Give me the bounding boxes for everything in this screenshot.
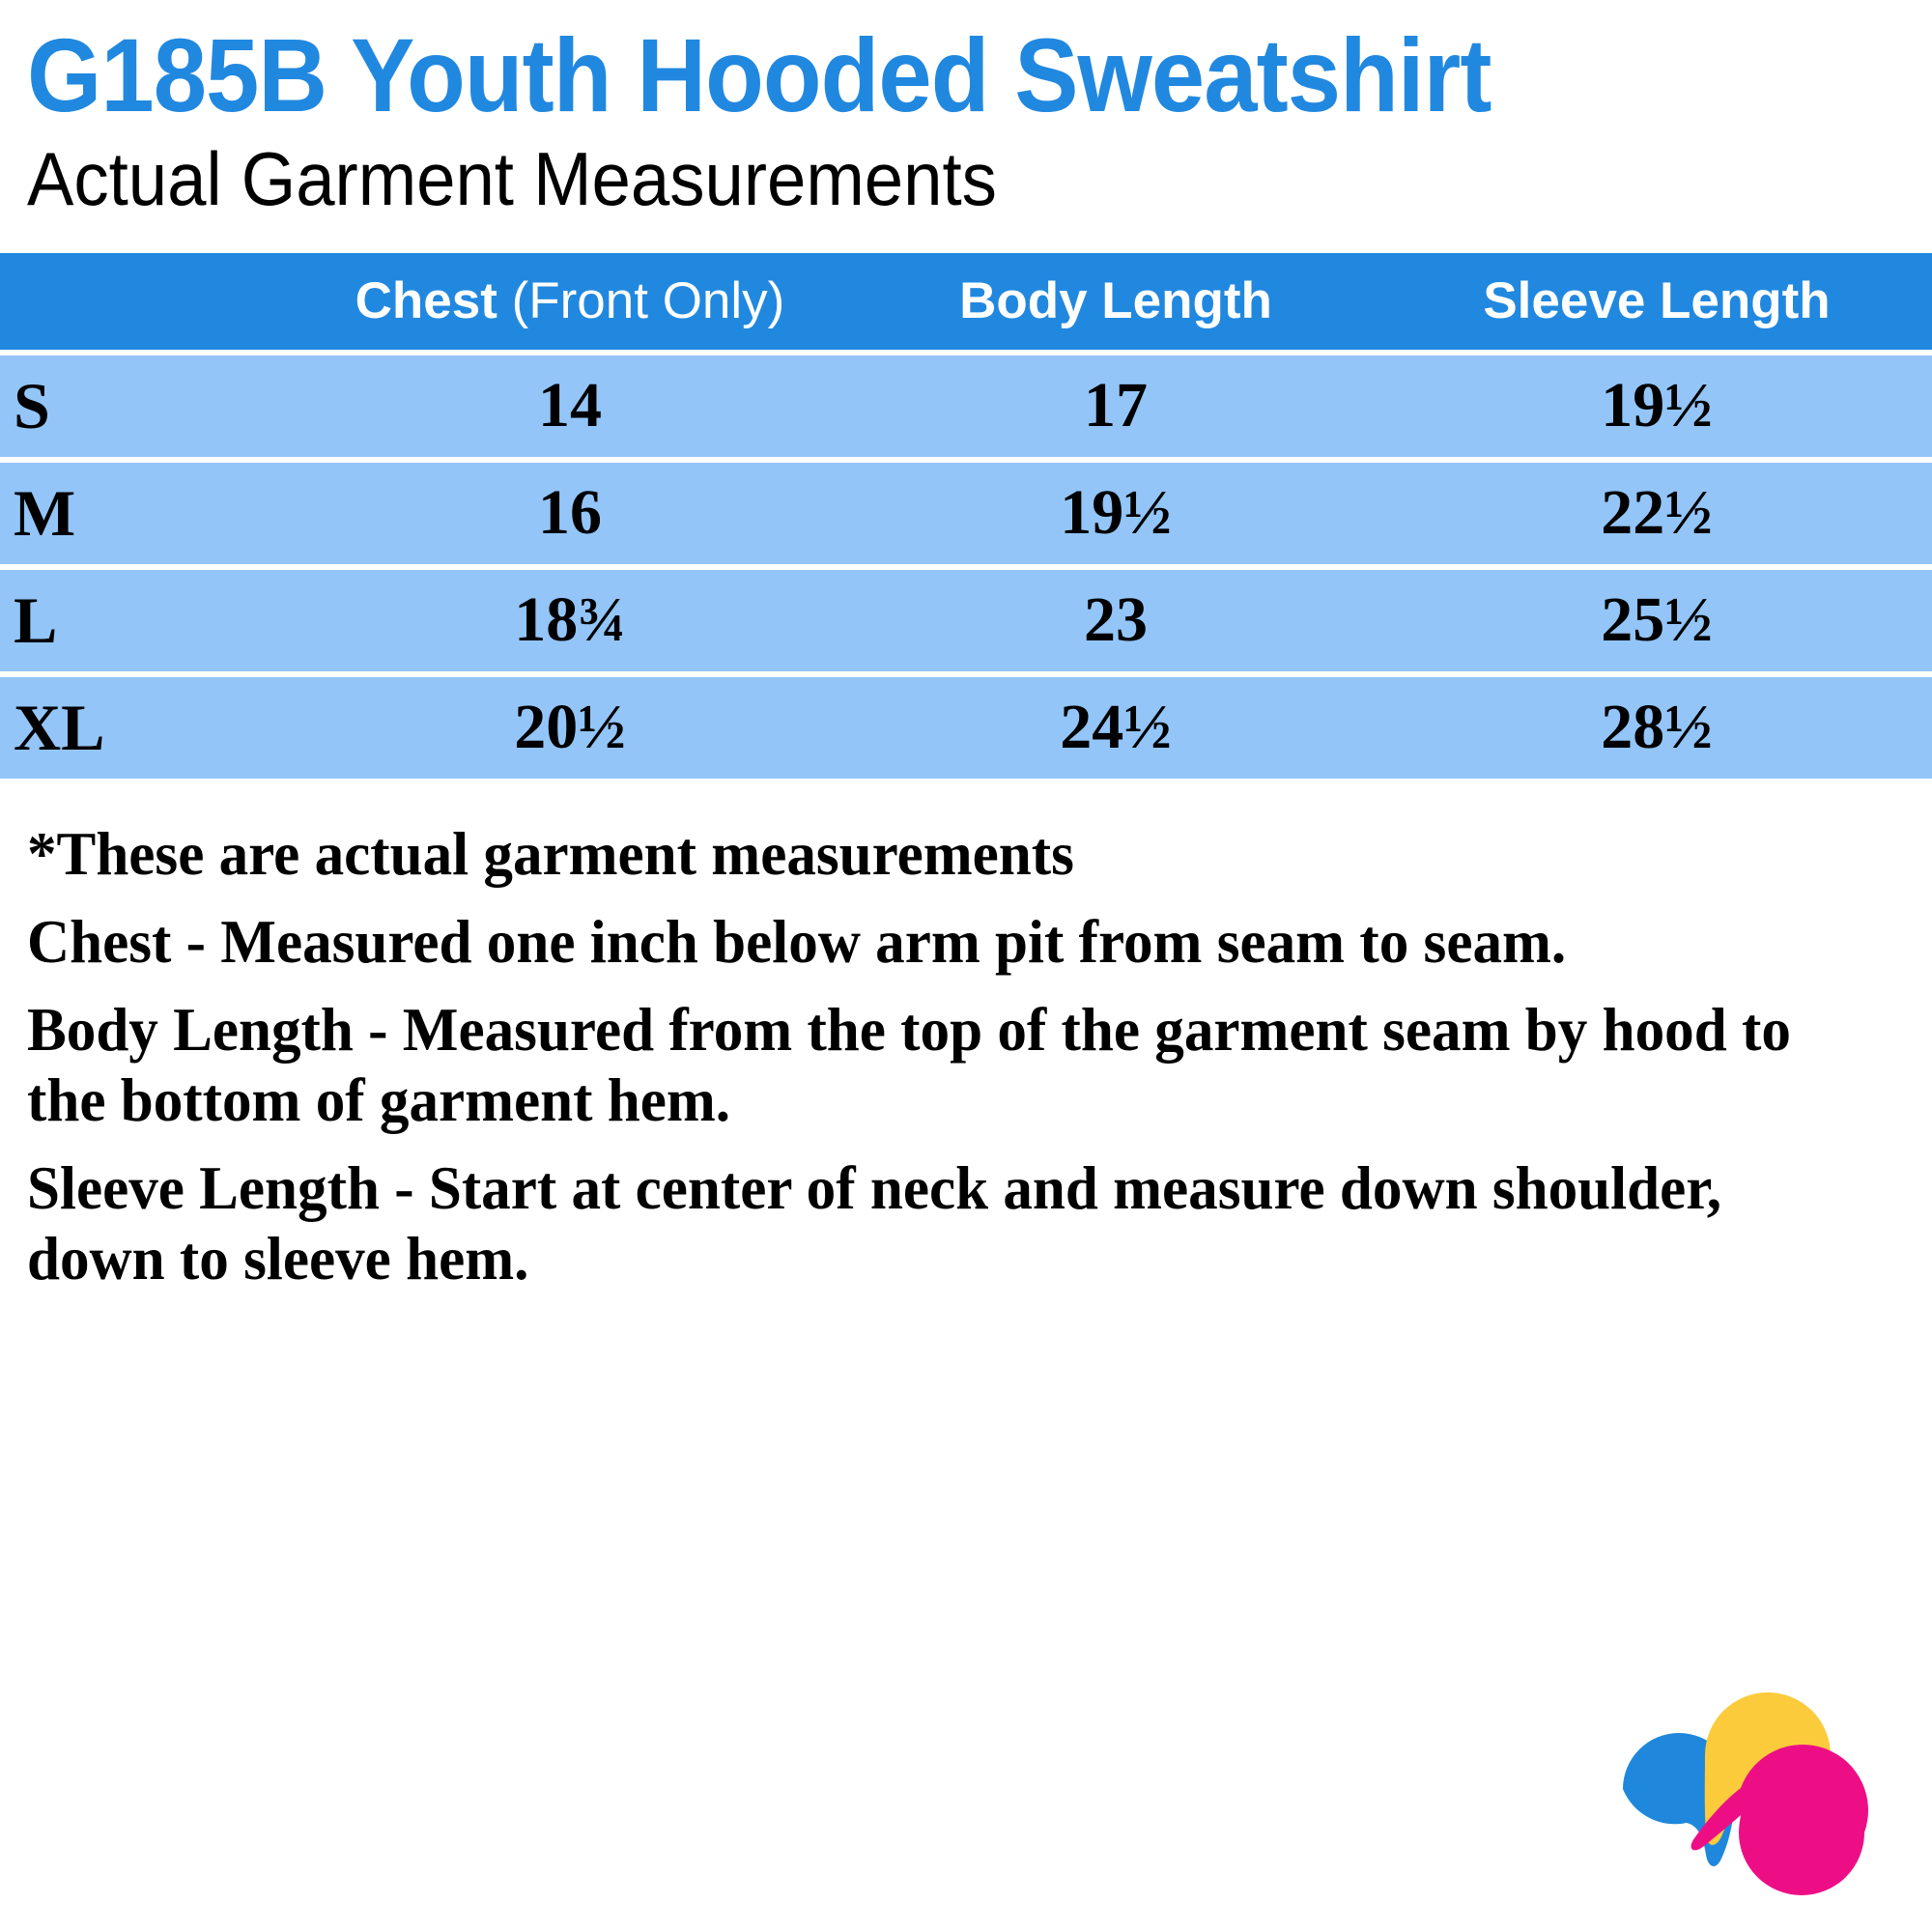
cell-body-length: 17 (850, 355, 1381, 457)
column-header-chest: Chest (Front Only) (290, 253, 850, 350)
column-header-sleeve-length: Sleeve Length (1381, 253, 1932, 350)
cell-chest: 16 (290, 463, 850, 564)
table-row: M 16 19½ 22½ (0, 463, 1932, 564)
note-disclaimer: *These are actual garment measurements (27, 819, 1847, 890)
cell-size: S (0, 355, 290, 457)
cell-body-length: 23 (850, 570, 1381, 671)
table-header-row: Chest (Front Only) Body Length Sleeve Le… (0, 253, 1932, 350)
cell-chest: 18¾ (290, 570, 850, 671)
note-body-length: Body Length - Measured from the top of t… (27, 995, 1847, 1136)
column-header-chest-bold: Chest (355, 272, 497, 329)
table-row: XL 20½ 24½ 28½ (0, 677, 1932, 779)
cell-body-length: 19½ (850, 463, 1381, 564)
cell-sleeve-length: 22½ (1381, 463, 1932, 564)
cell-body-length: 24½ (850, 677, 1381, 779)
cell-size: L (0, 570, 290, 671)
column-header-size (0, 253, 290, 350)
cell-sleeve-length: 28½ (1381, 677, 1932, 779)
size-chart-page: G185B Youth Hooded Sweatshirt Actual Gar… (0, 0, 1932, 1932)
measurements-table: Chest (Front Only) Body Length Sleeve Le… (0, 247, 1932, 784)
cell-sleeve-length: 25½ (1381, 570, 1932, 671)
table-row: S 14 17 19½ (0, 355, 1932, 457)
three-bubble-logo (1565, 1663, 1893, 1905)
cell-sleeve-length: 19½ (1381, 355, 1932, 457)
page-subtitle: Actual Garment Measurements (27, 137, 1799, 221)
column-header-body-length: Body Length (850, 253, 1381, 350)
title-block: G185B Youth Hooded Sweatshirt Actual Gar… (0, 0, 1932, 222)
note-sleeve-length: Sleeve Length - Start at center of neck … (27, 1153, 1847, 1294)
column-header-chest-note: (Front Only) (497, 272, 784, 329)
cell-size: M (0, 463, 290, 564)
cell-size: XL (0, 677, 290, 779)
notes-section: *These are actual garment measurements C… (0, 819, 1932, 1294)
table-row: L 18¾ 23 25½ (0, 570, 1932, 671)
note-chest: Chest - Measured one inch below arm pit … (27, 907, 1847, 978)
cell-chest: 14 (290, 355, 850, 457)
cell-chest: 20½ (290, 677, 850, 779)
page-title: G185B Youth Hooded Sweatshirt (27, 21, 1779, 129)
table-body: S 14 17 19½ M 16 19½ 22½ L 18¾ 23 25½ XL… (0, 355, 1932, 779)
